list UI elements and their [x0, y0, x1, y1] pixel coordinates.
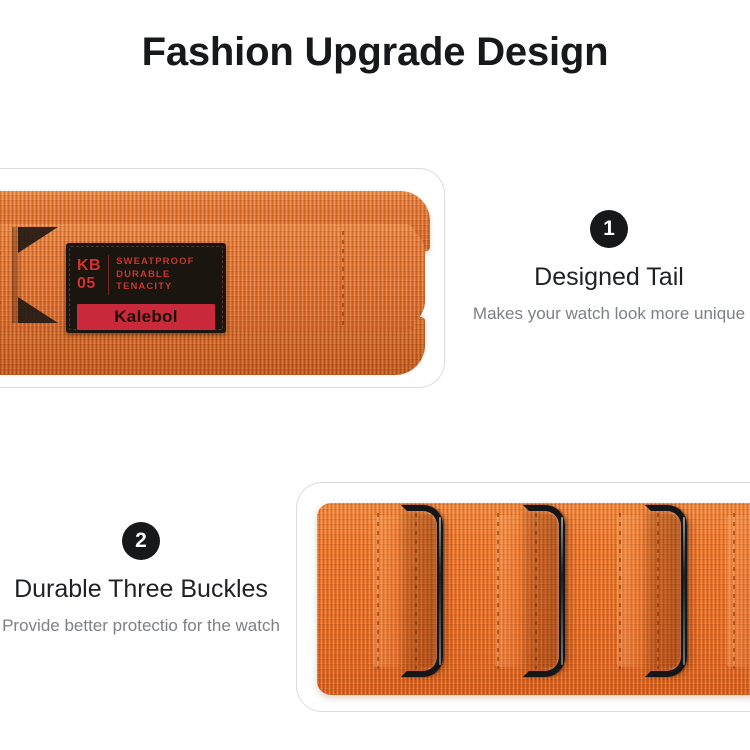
- feature-description-1: Makes your watch look more unique: [468, 302, 750, 325]
- stitch-line-3: [497, 513, 499, 669]
- brand-label-patch: KB 05 SWEATPROOF DURABLE TENACITY Kalebo…: [66, 243, 226, 333]
- product-photo-card-buckles: [296, 482, 750, 712]
- feature-description-2: Provide better protectio for the watch: [0, 614, 282, 637]
- folded-corner-top-icon: [18, 227, 58, 253]
- brand-name: Kalebol: [114, 307, 178, 327]
- feature-title-2: Durable Three Buckles: [0, 574, 282, 604]
- feature-title-1: Designed Tail: [468, 262, 750, 292]
- feature-number-badge-2: 2: [122, 522, 160, 560]
- label-code-line-1: KB: [77, 257, 101, 275]
- stitch-line-7: [733, 513, 735, 669]
- label-claim-durable: DURABLE: [116, 269, 194, 282]
- label-claim-tenacity: TENACITY: [116, 281, 194, 294]
- label-divider: [108, 255, 109, 295]
- label-model-code: KB 05: [77, 257, 101, 292]
- product-photo-card-tail: KB 05 SWEATPROOF DURABLE TENACITY Kalebo…: [0, 168, 445, 388]
- feature-number-badge-1: 1: [590, 210, 628, 248]
- stitch-line-1: [377, 513, 379, 669]
- label-brand-bar: Kalebol: [77, 304, 215, 330]
- feature-block-1: 1 Designed Tail Makes your watch look mo…: [468, 210, 750, 325]
- tail-stitch-line: [342, 231, 344, 329]
- buckle-keeper-1: [401, 505, 443, 677]
- keeper-pad-4: [727, 515, 750, 667]
- infographic-page: Fashion Upgrade Design KB 05 SWEATPROOF …: [0, 0, 750, 750]
- buckle-keeper-3: [645, 505, 687, 677]
- label-code-line-2: 05: [77, 275, 101, 293]
- label-claim-sweatproof: SWEATPROOF: [116, 256, 194, 269]
- stitch-line-5: [619, 513, 621, 669]
- label-upper-row: KB 05 SWEATPROOF DURABLE TENACITY: [73, 249, 219, 301]
- feature-block-2: 2 Durable Three Buckles Provide better p…: [0, 522, 282, 637]
- label-claims: SWEATPROOF DURABLE TENACITY: [116, 256, 194, 294]
- folded-corner-bottom-icon: [18, 297, 58, 323]
- page-title: Fashion Upgrade Design: [0, 30, 750, 75]
- buckle-keeper-2: [523, 505, 565, 677]
